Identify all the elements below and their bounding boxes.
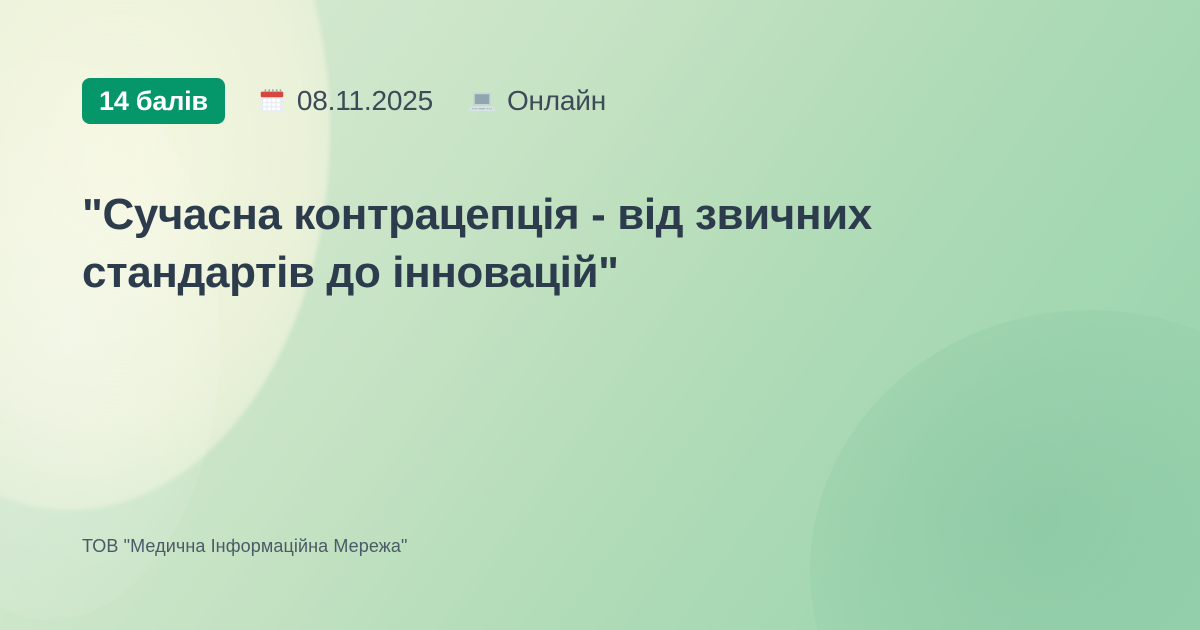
- organizer-name: ТОВ "Медична Інформаційна Мережа": [82, 536, 1120, 558]
- page-title: "Сучасна контрацепція - від звичних стан…: [82, 186, 1112, 302]
- event-format: Онлайн: [467, 86, 606, 116]
- credit-points-badge: 14 балів: [82, 78, 225, 124]
- event-date-text: 08.11.2025: [297, 87, 433, 115]
- card-content: 14 балів: [0, 0, 1200, 630]
- laptop-icon: [467, 86, 497, 116]
- event-date: 08.11.2025: [257, 86, 433, 116]
- event-card: 14 балів: [0, 0, 1200, 630]
- event-format-text: Онлайн: [507, 87, 606, 115]
- meta-row: 14 балів: [82, 78, 1120, 124]
- calendar-icon: [257, 86, 287, 116]
